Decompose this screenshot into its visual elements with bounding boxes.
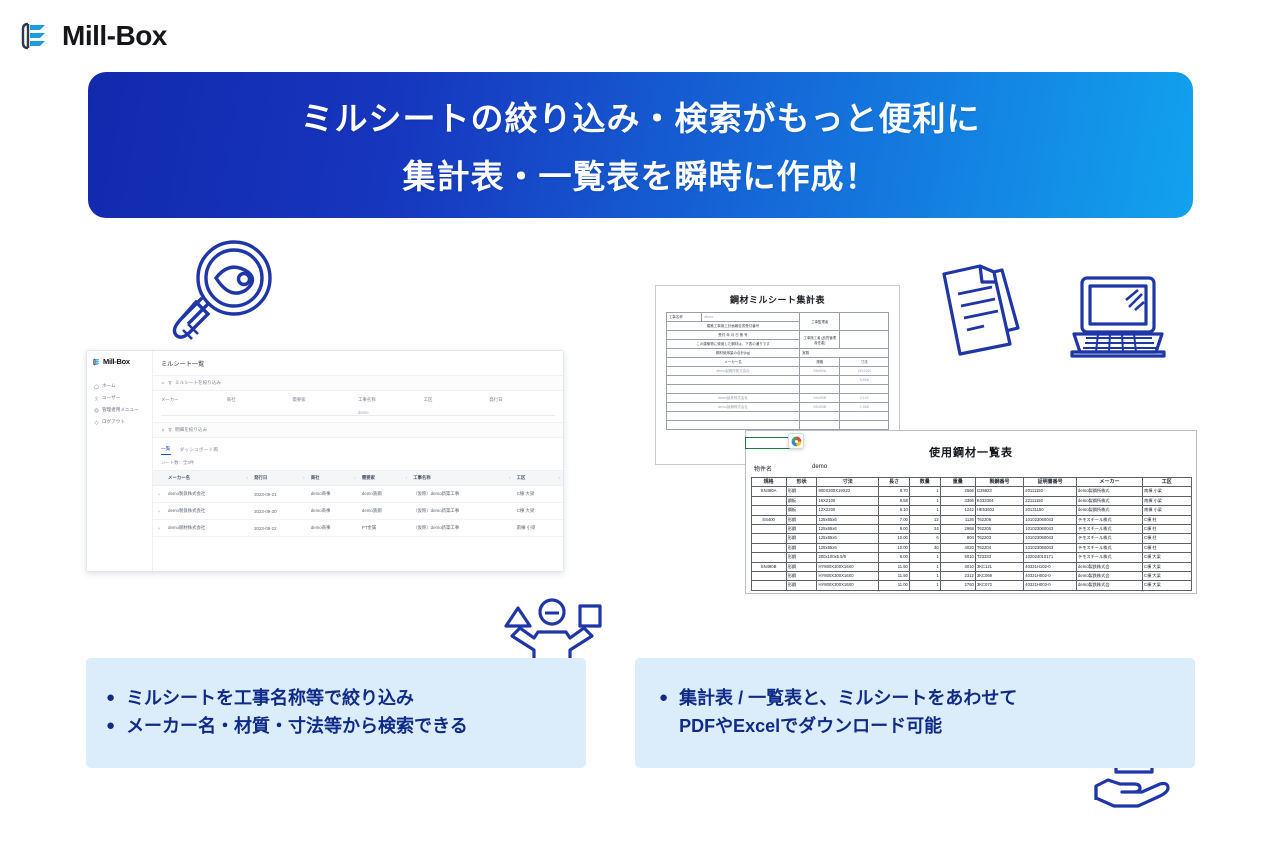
cell-trading: demo商事	[308, 503, 359, 520]
table-row: SN490B形鋼HY800X300X16X011.50130103KC12140…	[751, 562, 1191, 571]
cell-製鋼番号: G35923	[975, 487, 1023, 496]
property-value: demo	[812, 464, 827, 473]
cell-寸法: 125x65x6	[817, 515, 879, 524]
col-size: 寸法	[840, 358, 889, 367]
chevron-down-icon	[161, 381, 165, 386]
cell-maker	[666, 421, 800, 430]
label-constructor: 工事施工者 (品質管理責任者)	[800, 331, 840, 349]
cell-maker: demo製鉄株式会社	[165, 486, 251, 503]
steel-list-title: 使用鋼材一覧表	[746, 431, 1196, 464]
cell-工区: C棟 大梁	[1143, 581, 1191, 590]
cell-製鋼番号: T62205	[975, 525, 1023, 534]
cell-standard	[800, 376, 840, 385]
cell-形状: 形鋼	[786, 553, 817, 562]
doc-row: 受付 年 月 日 第 号 工事施工者 (品質管理責任者)	[666, 331, 889, 340]
cell-工区: C棟 大梁	[1143, 562, 1191, 571]
cell-製鋼番号: HE53602	[975, 506, 1023, 515]
cell-weight	[840, 421, 889, 430]
cell-size: 19X2100	[840, 367, 889, 376]
bullet-item: ● メーカー名・材質・寸法等から検索できる	[106, 713, 586, 741]
bullet-dot: ●	[106, 685, 115, 711]
steel-list-meta: 物件名 demo	[746, 464, 1196, 477]
cell-数量: 1	[909, 581, 940, 590]
cell-形状: 形鋼	[786, 581, 817, 590]
table-row: 形鋼200x100x5.5/88.0015010T233331020240101…	[751, 553, 1191, 562]
summary-document-title: 鋼材ミルシート集計表	[656, 286, 899, 312]
sidebar-item-label: ユーザー	[102, 395, 120, 401]
filter-value	[489, 410, 555, 416]
cell-メーカー: テモスチール株式	[1077, 534, 1143, 543]
col-maker[interactable]: メーカー名	[165, 471, 251, 486]
col-standard: 規格	[800, 358, 840, 367]
cell-重量: 2312	[940, 572, 975, 581]
table-row: 形鋼125x65x610.006804T62203101023060043テモス…	[751, 534, 1191, 543]
chevron-right-icon	[161, 428, 165, 433]
sidebar-item-logout[interactable]: ログアウト	[87, 416, 152, 428]
cell-maker: demo製鋼株式会社	[666, 403, 800, 412]
cell-規格	[751, 581, 786, 590]
cell-メーカー: テモスチール株式	[1077, 515, 1143, 524]
filter-label: 工事名称	[358, 397, 424, 403]
cell-製鋼番号: 3KC121	[975, 562, 1023, 571]
cell-形状: 形鋼	[786, 515, 817, 524]
logout-icon	[94, 420, 99, 425]
label-project: 工事名称	[666, 313, 702, 322]
col-standard: 規格	[751, 478, 786, 487]
label-receipt-no: 建築工事施工計画報告書受付番号	[666, 322, 800, 331]
cell-customer: PT金属	[359, 520, 410, 537]
app-logo-text: Mill-Box	[103, 357, 130, 366]
funnel-icon	[168, 428, 172, 433]
cell-zone: 南棟 小梁	[514, 520, 563, 537]
app-screenshot: Mill-Box ホーム ユーザー 管理者用メニュー	[86, 350, 564, 572]
cell-メーカー: テモスチール株式	[1077, 525, 1143, 534]
cell-寸法: 200x100x5.5/8	[817, 553, 879, 562]
cell-証明書番号: 102024010171	[1024, 553, 1077, 562]
cell-長さ: 8.00	[879, 525, 910, 534]
cell-製鋼番号: 3KC072	[975, 581, 1023, 590]
table-row: 鋼板12X22006.1011242HE5360220131150demo製鋼所…	[751, 506, 1191, 515]
feature-panel-right: ● 集計表 / 一覧表と、ミルシートをあわせて PDFやExcelでダウンロード…	[635, 658, 1195, 768]
sidebar-item-admin-menu[interactable]: 管理者用メニュー	[87, 404, 152, 416]
cell-数量: 1	[909, 572, 940, 581]
cell-重量: 4020	[940, 543, 975, 552]
cell-重量: 2968	[940, 525, 975, 534]
doc-row: demo製鋼所株式会社 SN490A 19X2100	[666, 367, 889, 376]
cell-証明書番号: 101023060043	[1024, 525, 1077, 534]
brand-header: Mill-Box	[20, 20, 167, 52]
cell-証明書番号: 101023060043	[1024, 543, 1077, 552]
table-row[interactable]: + demo製鉄株式会社 2023-09-30 demo商事 demo鉄鋼 （仮…	[153, 503, 563, 520]
cell-寸法: 12X2200	[817, 506, 879, 515]
doc-row: 工事名称 demo 工事監理者	[666, 313, 889, 322]
promo-page: Mill-Box ミルシートの絞り込み・検索がもっと便利に 集計表・一覧表を瞬時…	[0, 0, 1280, 853]
cell-寸法: 900X300X19X22	[817, 487, 879, 496]
cell-メーカー: テモスチール株式	[1077, 553, 1143, 562]
cell-customer: demo鉄鋼	[359, 486, 410, 503]
sidebar-item-home[interactable]: ホーム	[87, 380, 152, 392]
mill-box-logo-icon	[20, 20, 52, 52]
cell-工区: 南棟 小梁	[1143, 496, 1191, 505]
col-maker: メーカー名	[666, 358, 800, 367]
cell-長さ: 8.00	[879, 553, 910, 562]
filter-value	[292, 410, 358, 416]
bullet-dot: ●	[106, 713, 115, 739]
cell-製鋼番号: T62204	[975, 543, 1023, 552]
cell-メーカー: テモスチール株式	[1077, 543, 1143, 552]
cell-形状: 形鋼	[786, 525, 817, 534]
bullet-text: メーカー名・材質・寸法等から検索できる	[126, 713, 468, 741]
gear-icon	[94, 408, 99, 413]
cell-メーカー: demo製鋼所株式	[1077, 506, 1143, 515]
cell-長さ: 10.00	[879, 534, 910, 543]
cell-長さ: 7.00	[879, 515, 910, 524]
cell-規格	[751, 572, 786, 581]
cell-数量: 12	[909, 515, 940, 524]
cell-project: （仮称）demo新築工事	[410, 503, 514, 520]
documents-icon	[936, 258, 1026, 358]
cell-形状: 鋼板	[786, 506, 817, 515]
tab-dashboard[interactable]: ダッシュボード風	[180, 446, 218, 455]
cell-数量: 1	[909, 562, 940, 571]
cell-製鋼番号: 3KC069	[975, 572, 1023, 581]
cell-長さ: 9.58	[879, 496, 910, 505]
cell-証明書番号: 101023060043	[1024, 515, 1077, 524]
cell-工区: C棟 大梁	[1143, 553, 1191, 562]
sidebar-item-label: ホーム	[102, 383, 116, 389]
filter-label: 商社	[227, 397, 293, 403]
filter-field-zone[interactable]: 工区	[424, 397, 490, 416]
app-sidebar: Mill-Box ホーム ユーザー 管理者用メニュー	[87, 351, 153, 571]
sidebar-item-label: 管理者用メニュー	[102, 407, 139, 413]
cell-工区: 南棟 小梁	[1143, 487, 1191, 496]
col-customer[interactable]: 需要家	[359, 471, 410, 486]
label-receipt-date: 受付 年 月 日 第 号	[666, 331, 800, 340]
col-trading[interactable]: 商社	[308, 471, 359, 486]
cell-数量: 1	[909, 553, 940, 562]
cell-形状: 形鋼	[786, 562, 817, 571]
page-title: ミルシート一覧	[153, 351, 563, 375]
cell-issue-date: 2023-09-21	[251, 486, 308, 503]
cell-寸法: 125x65x6	[817, 525, 879, 534]
cell-製鋼番号: K033304	[975, 496, 1023, 505]
cell-weight: 5,566	[840, 376, 889, 385]
filter-value: demo	[358, 410, 424, 416]
hero-line-1: ミルシートの絞り込み・検索がもっと便利に	[301, 92, 981, 140]
cell-証明書番号: 101023060043	[1024, 534, 1077, 543]
cell-weight	[840, 385, 889, 394]
cell-weight	[840, 412, 889, 421]
cell-重量: 3366	[940, 496, 975, 505]
col-expand	[153, 471, 165, 486]
cell-形状: 鋼板	[786, 496, 817, 505]
col-size: 寸法	[817, 478, 879, 487]
laptop-icon	[1066, 272, 1170, 360]
label-statement: この建築物に使用した鋼材は、下表の通りです	[666, 340, 800, 349]
cell-規格: SN490B	[751, 562, 786, 571]
cell-maker	[666, 412, 800, 421]
mill-sheet-table: メーカー名 発行日 商社 需要家 工事名称 工区 + demo製鉄株式会社 20…	[153, 470, 563, 537]
mill-sheet-filter-header[interactable]: ミルシートを絞り込み	[153, 375, 563, 391]
table-row: 形鋼125x65x68.00242968T62205101023060043テモ…	[751, 525, 1191, 534]
col-cert-no: 証明書番号	[1024, 478, 1077, 487]
cell-規格	[751, 496, 786, 505]
cell-standard: SN490A	[800, 367, 840, 376]
bullet-text: 集計表 / 一覧表と、ミルシートをあわせて PDFやExcelでダウンロード可能	[679, 685, 1017, 741]
cell-形状: 形鋼	[786, 543, 817, 552]
steel-list-table: 規格 形状 寸法 長さ 数量 重量 製鋼番号 証明書番号 メーカー 工区 SN4…	[751, 477, 1192, 591]
cell-issue-date: 2023-08-22	[251, 520, 308, 537]
bullet-item: ● ミルシートを工事名称等で絞り込み	[106, 685, 586, 713]
cell-長さ: 11.50	[879, 562, 910, 571]
cell-weight: 2,102	[840, 394, 889, 403]
summary-document-table: 工事名称 demo 工事監理者 建築工事施工計画報告書受付番号 受付 年 月 日…	[666, 312, 890, 430]
excel-cell-icon[interactable]	[788, 433, 804, 449]
table-row: 形鋼HY800X300X16X011.00127603KC07240321H00…	[751, 581, 1191, 590]
filter-label: ミルシートを絞り込み	[175, 380, 221, 386]
col-length: 長さ	[879, 478, 910, 487]
cell-寸法: 125x65x6	[817, 543, 879, 552]
cell-寸法: HY800X300X16X0	[817, 581, 879, 590]
cell-数量: 1	[909, 487, 940, 496]
doc-row: 5,566	[666, 376, 889, 385]
col-quantity: 数量	[909, 478, 940, 487]
doc-row	[666, 412, 889, 421]
sidebar-item-user[interactable]: ユーザー	[87, 392, 152, 404]
cell-長さ: 11.00	[879, 581, 910, 590]
cell-standard	[800, 412, 840, 421]
filter-field-project[interactable]: 工事名称 demo	[358, 397, 424, 416]
value-project: demo	[702, 313, 800, 322]
table-header-row: メーカー名 発行日 商社 需要家 工事名称 工区	[153, 471, 563, 486]
cell-長さ: 10.00	[879, 543, 910, 552]
cell-weight: 1,566	[840, 403, 889, 412]
table-row: SN490A形鋼900X300X19X228.7012566G359232011…	[751, 487, 1191, 496]
doc-row: demo製鉄株式会社 SA490B 2,102	[666, 394, 889, 403]
cell-customer: demo鉄鋼	[359, 503, 410, 520]
expand-toggle[interactable]: +	[153, 503, 165, 520]
cell-maker: demo鋼材株式会社	[165, 520, 251, 537]
cell-maker: demo製鋼所株式会社	[666, 367, 800, 376]
cell-寸法: 16X2100	[817, 496, 879, 505]
cell-メーカー: demo製鉄株式会	[1077, 562, 1143, 571]
table-row: 鋼板16X21009.5813366K03330422111150demo製鋼所…	[751, 496, 1191, 505]
cell-standard	[800, 385, 840, 394]
cell-メーカー: demo製鉄株式会	[1077, 572, 1143, 581]
cell-規格: SN490A	[751, 487, 786, 496]
cell-standard: SA490B	[800, 394, 840, 403]
user-icon	[94, 396, 99, 401]
value-total-weight: 実数	[800, 349, 889, 358]
cell-工区: C棟 柱	[1143, 543, 1191, 552]
cell-証明書番号: 40321H002-0	[1024, 572, 1077, 581]
cell-工区: C棟 柱	[1143, 534, 1191, 543]
col-heat-no: 製鋼番号	[975, 478, 1023, 487]
cell-数量: 30	[909, 543, 940, 552]
cell-trading: demo商事	[308, 486, 359, 503]
cell-形状: 形鋼	[786, 487, 817, 496]
cell-数量: 1	[909, 506, 940, 515]
cell-standard: SS400B	[800, 403, 840, 412]
cell-issue-date: 2023-09-30	[251, 503, 308, 520]
cell-寸法: HY800X300X16X0	[817, 562, 879, 571]
doc-row: demo製鋼株式会社 SS400B 1,566	[666, 403, 889, 412]
table-header-row: 規格 形状 寸法 長さ 数量 重量 製鋼番号 証明書番号 メーカー 工区	[751, 478, 1191, 487]
sheet-count-value: 全3件	[183, 460, 194, 465]
cell-trading: demo商事	[308, 520, 359, 537]
filter-label: 発行日	[489, 397, 555, 403]
doc-row	[666, 385, 889, 394]
sheet-count-label: シート数：	[161, 460, 183, 465]
cell-数量: 6	[909, 534, 940, 543]
cell-規格	[751, 506, 786, 515]
cell-証明書番号: 20131150	[1024, 506, 1077, 515]
filter-field-trading[interactable]: 商社	[227, 397, 293, 416]
doc-row	[666, 421, 889, 430]
cell-証明書番号: 40321H102-0	[1024, 562, 1077, 571]
table-row: 形鋼HY800X300X16X011.50123123KC06940321H00…	[751, 572, 1191, 581]
cell-寸法: 125x65x6	[817, 534, 879, 543]
cell-長さ: 8.70	[879, 487, 910, 496]
col-issue-date[interactable]: 発行日	[251, 471, 308, 486]
doc-row: 鋼材使用量の合計(kg) 実数	[666, 349, 889, 358]
cell-maker: demo製鉄株式会社	[666, 394, 800, 403]
filter-value	[424, 410, 490, 416]
cell-規格	[751, 543, 786, 552]
cell-重量: 2760	[940, 581, 975, 590]
doc-table-header-row: メーカー名 規格 寸法	[666, 358, 889, 367]
cell-工区: C棟 大梁	[1143, 572, 1191, 581]
cell-数量: 1	[909, 496, 940, 505]
col-weight: 重量	[940, 478, 975, 487]
filter-field-maker[interactable]: メーカー	[161, 397, 227, 416]
cell-メーカー: demo製鉄株式会	[1077, 581, 1143, 590]
cell-製鋼番号: T62206	[975, 515, 1023, 524]
detail-filter-header[interactable]: 明細を絞り込み	[153, 422, 563, 438]
cell-工区: C棟 柱	[1143, 515, 1191, 524]
cell-重量: 5010	[940, 553, 975, 562]
filter-label: 需要家	[292, 397, 358, 403]
filter-value	[227, 410, 293, 416]
value-constructor	[840, 331, 889, 349]
tab-list[interactable]: 一覧	[161, 445, 171, 455]
bullet-item: ● 集計表 / 一覧表と、ミルシートをあわせて PDFやExcelでダウンロード…	[659, 685, 1195, 741]
cell-長さ: 11.50	[879, 572, 910, 581]
cell-重量: 3010	[940, 562, 975, 571]
cell-zone: C棟 大梁	[514, 503, 563, 520]
cell-maker: demo製鉄株式会社	[165, 503, 251, 520]
filter-value	[161, 410, 227, 416]
cell-証明書番号: 20111150	[1024, 487, 1077, 496]
cell-メーカー: demo製鋼所株式	[1077, 487, 1143, 496]
cell-重量: 2566	[940, 487, 975, 496]
cell-寸法: HY800X300X16X0	[817, 572, 879, 581]
filter-label: 明細を絞り込み	[175, 427, 207, 433]
label-total-weight: 鋼材使用量の合計(kg)	[666, 349, 800, 358]
sheet-count: シート数：全3件	[153, 455, 563, 470]
cell-maker	[666, 385, 800, 394]
expand-toggle[interactable]: +	[153, 486, 165, 503]
bullet-text: ミルシートを工事名称等で絞り込み	[126, 685, 414, 713]
table-row: SS400形鋼125x65x67.00121126T62206101023060…	[751, 515, 1191, 524]
mill-box-logo-icon-small	[93, 358, 101, 366]
app-main: ミルシート一覧 ミルシートを絞り込み メーカー 商社	[153, 351, 563, 571]
cell-規格	[751, 534, 786, 543]
cell-project: （仮称）demo新築工事	[410, 520, 514, 537]
filter-field-customer[interactable]: 需要家	[292, 397, 358, 416]
table-row[interactable]: + demo製鉄株式会社 2023-09-21 demo商事 demo鉄鋼 （仮…	[153, 486, 563, 503]
cell-形状: 形鋼	[786, 534, 817, 543]
cell-長さ: 6.10	[879, 506, 910, 515]
cell-maker	[666, 376, 800, 385]
hero-line-2: 集計表・一覧表を瞬時に作成！	[403, 150, 879, 198]
feature-panel-left: ● ミルシートを工事名称等で絞り込み ● メーカー名・材質・寸法等から検索できる	[86, 658, 586, 768]
expand-toggle[interactable]: +	[153, 520, 165, 537]
filter-label: メーカー	[161, 397, 227, 403]
cell-数量: 24	[909, 525, 940, 534]
table-row[interactable]: + demo鋼材株式会社 2023-08-22 demo商事 PT金属 （仮称）…	[153, 520, 563, 537]
sidebar-item-label: ログアウト	[102, 419, 125, 425]
view-tabs: 一覧 ダッシュボード風	[153, 438, 563, 455]
col-project[interactable]: 工事名称	[410, 471, 514, 486]
cell-製鋼番号: T23333	[975, 553, 1023, 562]
cell-規格	[751, 553, 786, 562]
cell-証明書番号: 40321H003-0	[1024, 581, 1077, 590]
cell-規格: SS400	[751, 515, 786, 524]
cell-重量: 804	[940, 534, 975, 543]
cell-standard	[800, 421, 840, 430]
cell-重量: 1242	[940, 506, 975, 515]
cell-証明書番号: 22111150	[1024, 496, 1077, 505]
label-supervisor: 工事監理者	[800, 313, 840, 331]
cell-project: （仮称）demo新築工事	[410, 486, 514, 503]
cell-形状: 形鋼	[786, 572, 817, 581]
brand-name: Mill-Box	[62, 20, 167, 52]
cell-工区: C棟 柱	[1143, 525, 1191, 534]
funnel-icon	[168, 381, 172, 386]
property-label: 物件名	[754, 464, 772, 473]
steel-list-document: 使用鋼材一覧表 物件名 demo 規格 形状 寸法 長さ 数量 重量 製鋼番号 …	[745, 430, 1197, 594]
cell-重量: 1126	[940, 515, 975, 524]
value-supervisor	[840, 313, 889, 331]
filter-label: 工区	[424, 397, 490, 403]
filter-field-issue-date[interactable]: 発行日	[489, 397, 555, 416]
bullet-dot: ●	[659, 685, 668, 711]
cell-zone: C棟 大梁	[514, 486, 563, 503]
cell-製鋼番号: T62203	[975, 534, 1023, 543]
col-maker: メーカー	[1077, 478, 1143, 487]
col-zone: 工区	[1143, 478, 1191, 487]
cell-メーカー: demo製鋼所株式	[1077, 496, 1143, 505]
app-logo: Mill-Box	[87, 351, 152, 366]
cell-規格	[751, 525, 786, 534]
magnifier-eye-icon	[158, 238, 284, 346]
col-zone[interactable]: 工区	[514, 471, 563, 486]
filter-fields: メーカー 商社 需要家 工事名称 demo 工区	[153, 391, 563, 418]
home-icon	[94, 384, 99, 389]
table-row: 形鋼125x65x610.00304020T62204101023060043テ…	[751, 543, 1191, 552]
cell-工区: 南棟 小梁	[1143, 506, 1191, 515]
col-shape: 形状	[786, 478, 817, 487]
hero-banner: ミルシートの絞り込み・検索がもっと便利に 集計表・一覧表を瞬時に作成！	[88, 72, 1193, 218]
